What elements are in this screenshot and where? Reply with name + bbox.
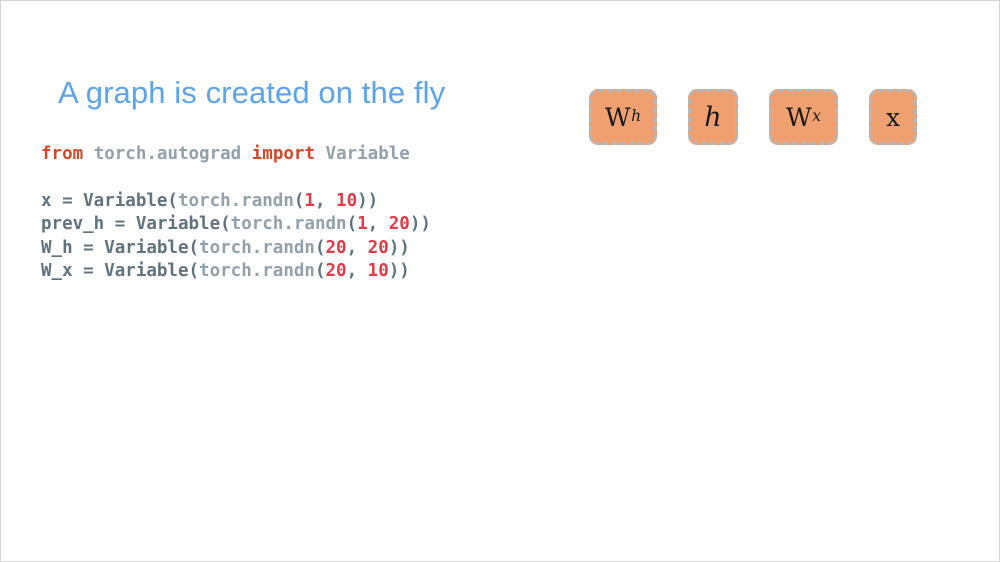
node-x[interactable]: x [869,89,917,145]
code-token-module: Variable [326,144,410,164]
code-token-plain: W_x = Variable( [41,261,199,281]
code-token-plain: W_h = Variable( [41,238,199,258]
code-token-plain: )) [389,261,410,281]
code-token-plain: , [347,238,368,258]
node-label-subscript: x [812,109,821,125]
code-token-number: 1 [304,191,315,211]
line-import: from torch.autograd import Variable [41,143,431,166]
code-token-plain: )) [410,214,431,234]
code-token-plain: ( [347,214,358,234]
code-token-module: torch. [231,214,294,234]
line-blank [41,166,431,189]
slide-canvas: A graph is created on the fly from torch… [0,0,1000,562]
code-token-plain: ( [315,261,326,281]
page-title: A graph is created on the fly [58,75,445,111]
code-token-number: 20 [326,261,347,281]
code-token-module: randn [262,238,315,258]
node-label: W [786,105,812,130]
node-label: W [605,105,631,130]
node-w-x[interactable]: Wx [769,89,838,145]
code-token-plain [83,144,94,164]
node-w-h[interactable]: Wh [589,89,657,145]
code-block: from torch.autograd import Variable x = … [41,143,431,283]
code-token-number: 20 [368,238,389,258]
code-token-module: torch.autograd [94,144,242,164]
line-w-h: W_h = Variable(torch.randn(20, 20)) [41,237,431,260]
code-token-plain: prev_h = Variable( [41,214,231,234]
code-token-module: torch. [178,191,241,211]
code-token-keyword: import [252,144,315,164]
line-w-x: W_x = Variable(torch.randn(20, 10)) [41,260,431,283]
code-token-number: 20 [389,214,410,234]
code-token-number: 20 [326,238,347,258]
node-label: h [704,104,721,131]
code-token-plain: , [347,261,368,281]
code-token-plain: ( [315,238,326,258]
line-x: x = Variable(torch.randn(1, 10)) [41,190,431,213]
node-h[interactable]: h [688,89,738,145]
node-label: x [886,105,900,130]
code-token-module: randn [262,261,315,281]
code-token-number: 10 [368,261,389,281]
code-token-module: torch. [199,261,262,281]
code-token-number: 1 [357,214,368,234]
code-token-keyword: from [41,144,83,164]
code-token-plain: , [368,214,389,234]
code-token-plain: )) [357,191,378,211]
code-token-plain: x = Variable( [41,191,178,211]
node-label-subscript: h [631,109,641,125]
code-token-module: randn [294,214,347,234]
code-token-plain [241,144,252,164]
code-token-plain [315,144,326,164]
code-token-module: torch. [199,238,262,258]
code-token-number: 10 [336,191,357,211]
code-token-plain: )) [389,238,410,258]
code-token-plain: ( [294,191,305,211]
code-token-plain: , [315,191,336,211]
code-token-module: randn [241,191,294,211]
line-prev-h: prev_h = Variable(torch.randn(1, 20)) [41,213,431,236]
